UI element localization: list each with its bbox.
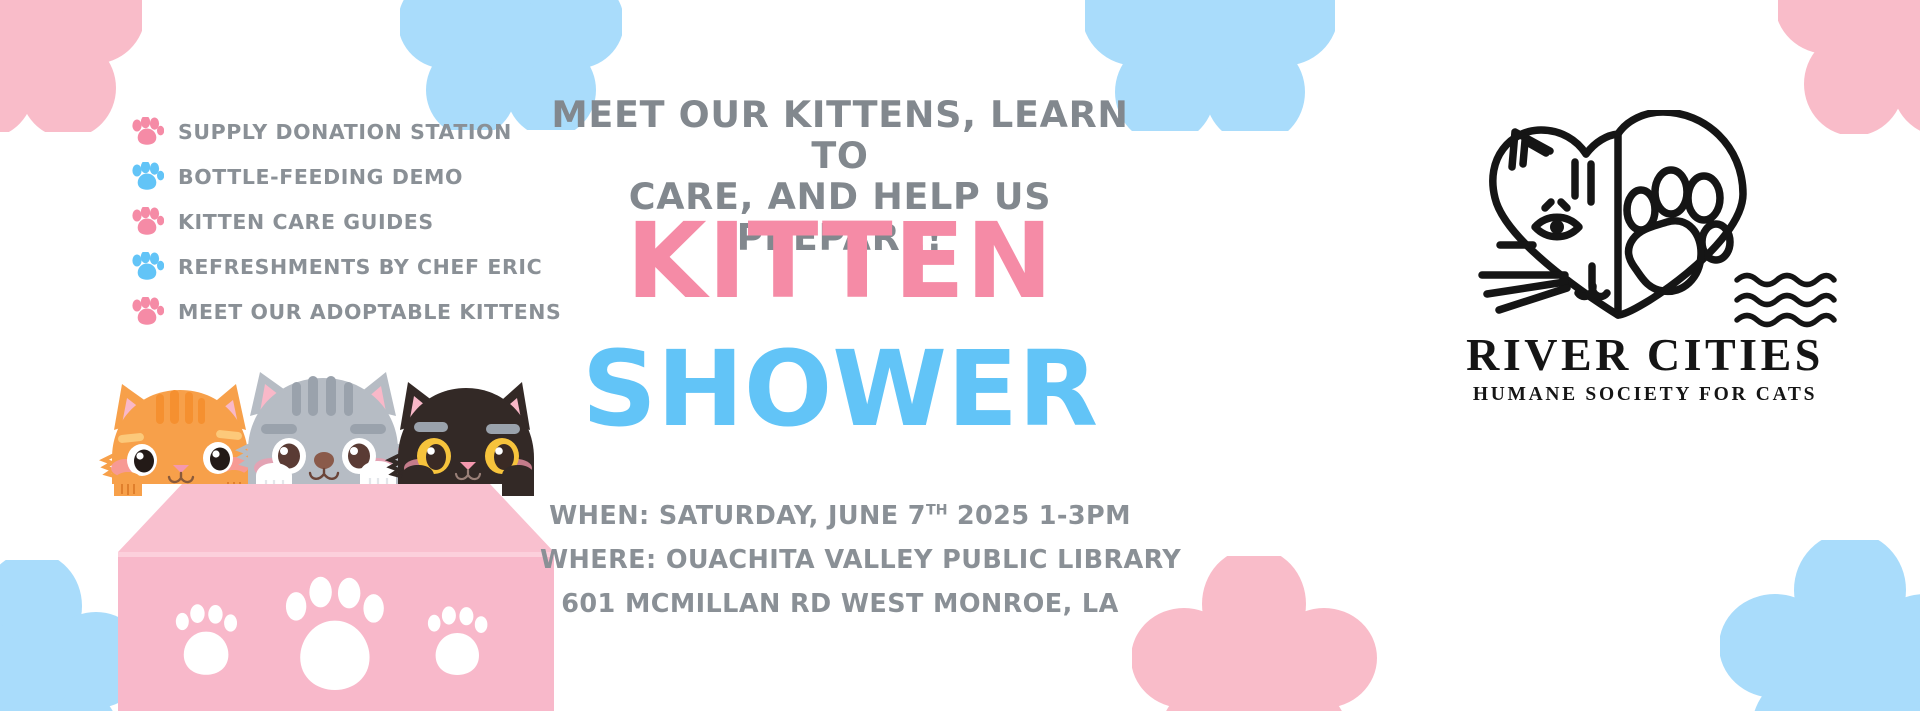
list-item-label: REFRESHMENTS BY CHEF ERIC	[178, 257, 542, 278]
list-item-label: MEET OUR ADOPTABLE KITTENS	[178, 302, 561, 323]
list-item-label: BOTTLE-FEEDING DEMO	[178, 167, 463, 188]
paw-print-icon	[130, 252, 164, 282]
orange-tabby-kitten	[104, 384, 249, 496]
page-title-word-shower: SHOWER	[540, 340, 1140, 439]
list-item: BOTTLE-FEEDING DEMO	[130, 163, 561, 191]
flower-bottom-right-pink	[1132, 556, 1377, 711]
list-item-label: SUPPLY DONATION STATION	[178, 122, 512, 143]
event-address-line: 601 MCMILLAN RD WEST MONROE, LA	[540, 583, 1140, 627]
paw-print-icon	[130, 162, 164, 192]
paw-print-icon	[130, 297, 164, 327]
kittens-in-box-illustration	[78, 372, 598, 711]
organization-logo: RIVER CITIES HUMANE SOCIETY FOR CATS	[1455, 110, 1845, 410]
when-ordinal: TH	[926, 503, 948, 519]
flower-bottom-right-blue	[1720, 540, 1920, 711]
paw-print-icon	[130, 207, 164, 237]
black-kitten	[390, 382, 534, 496]
feature-list: SUPPLY DONATION STATION BOTTLE-FEEDIN	[130, 118, 561, 326]
box-flap	[118, 484, 554, 552]
water-waves-icon	[1733, 270, 1838, 330]
logo-wordmark: RIVER CITIES HUMANE SOCIETY FOR CATS	[1435, 332, 1855, 405]
page-title-word-kitten: KITTEN	[540, 212, 1140, 311]
event-details: WHEN: SATURDAY, JUNE 7TH 2025 1-3PM WHER…	[540, 495, 1140, 627]
organization-tagline: HUMANE SOCIETY FOR CATS	[1435, 385, 1855, 405]
center-column: MEET OUR KITTENS, LEARN TO CARE, AND HEL…	[540, 0, 1140, 711]
paw-print-icon	[130, 117, 164, 147]
headline-line-1: MEET OUR KITTENS, LEARN TO	[540, 95, 1140, 177]
list-item: MEET OUR ADOPTABLE KITTENS	[130, 298, 561, 326]
list-item: REFRESHMENTS BY CHEF ERIC	[130, 253, 561, 281]
when-prefix: WHEN: SATURDAY, JUNE 7	[549, 501, 926, 531]
list-item: SUPPLY DONATION STATION	[130, 118, 561, 146]
when-suffix: 2025 1-3PM	[948, 501, 1131, 531]
event-where-line: WHERE: OUACHITA VALLEY PUBLIC LIBRARY	[540, 539, 1140, 583]
gray-tabby-kitten	[240, 372, 406, 496]
list-item: KITTEN CARE GUIDES	[130, 208, 561, 236]
event-when-line: WHEN: SATURDAY, JUNE 7TH 2025 1-3PM	[540, 495, 1140, 539]
list-item-label: KITTEN CARE GUIDES	[178, 212, 434, 233]
kitten-shower-flyer: SUPPLY DONATION STATION BOTTLE-FEEDIN	[0, 0, 1920, 711]
organization-name: RIVER CITIES	[1435, 332, 1855, 378]
